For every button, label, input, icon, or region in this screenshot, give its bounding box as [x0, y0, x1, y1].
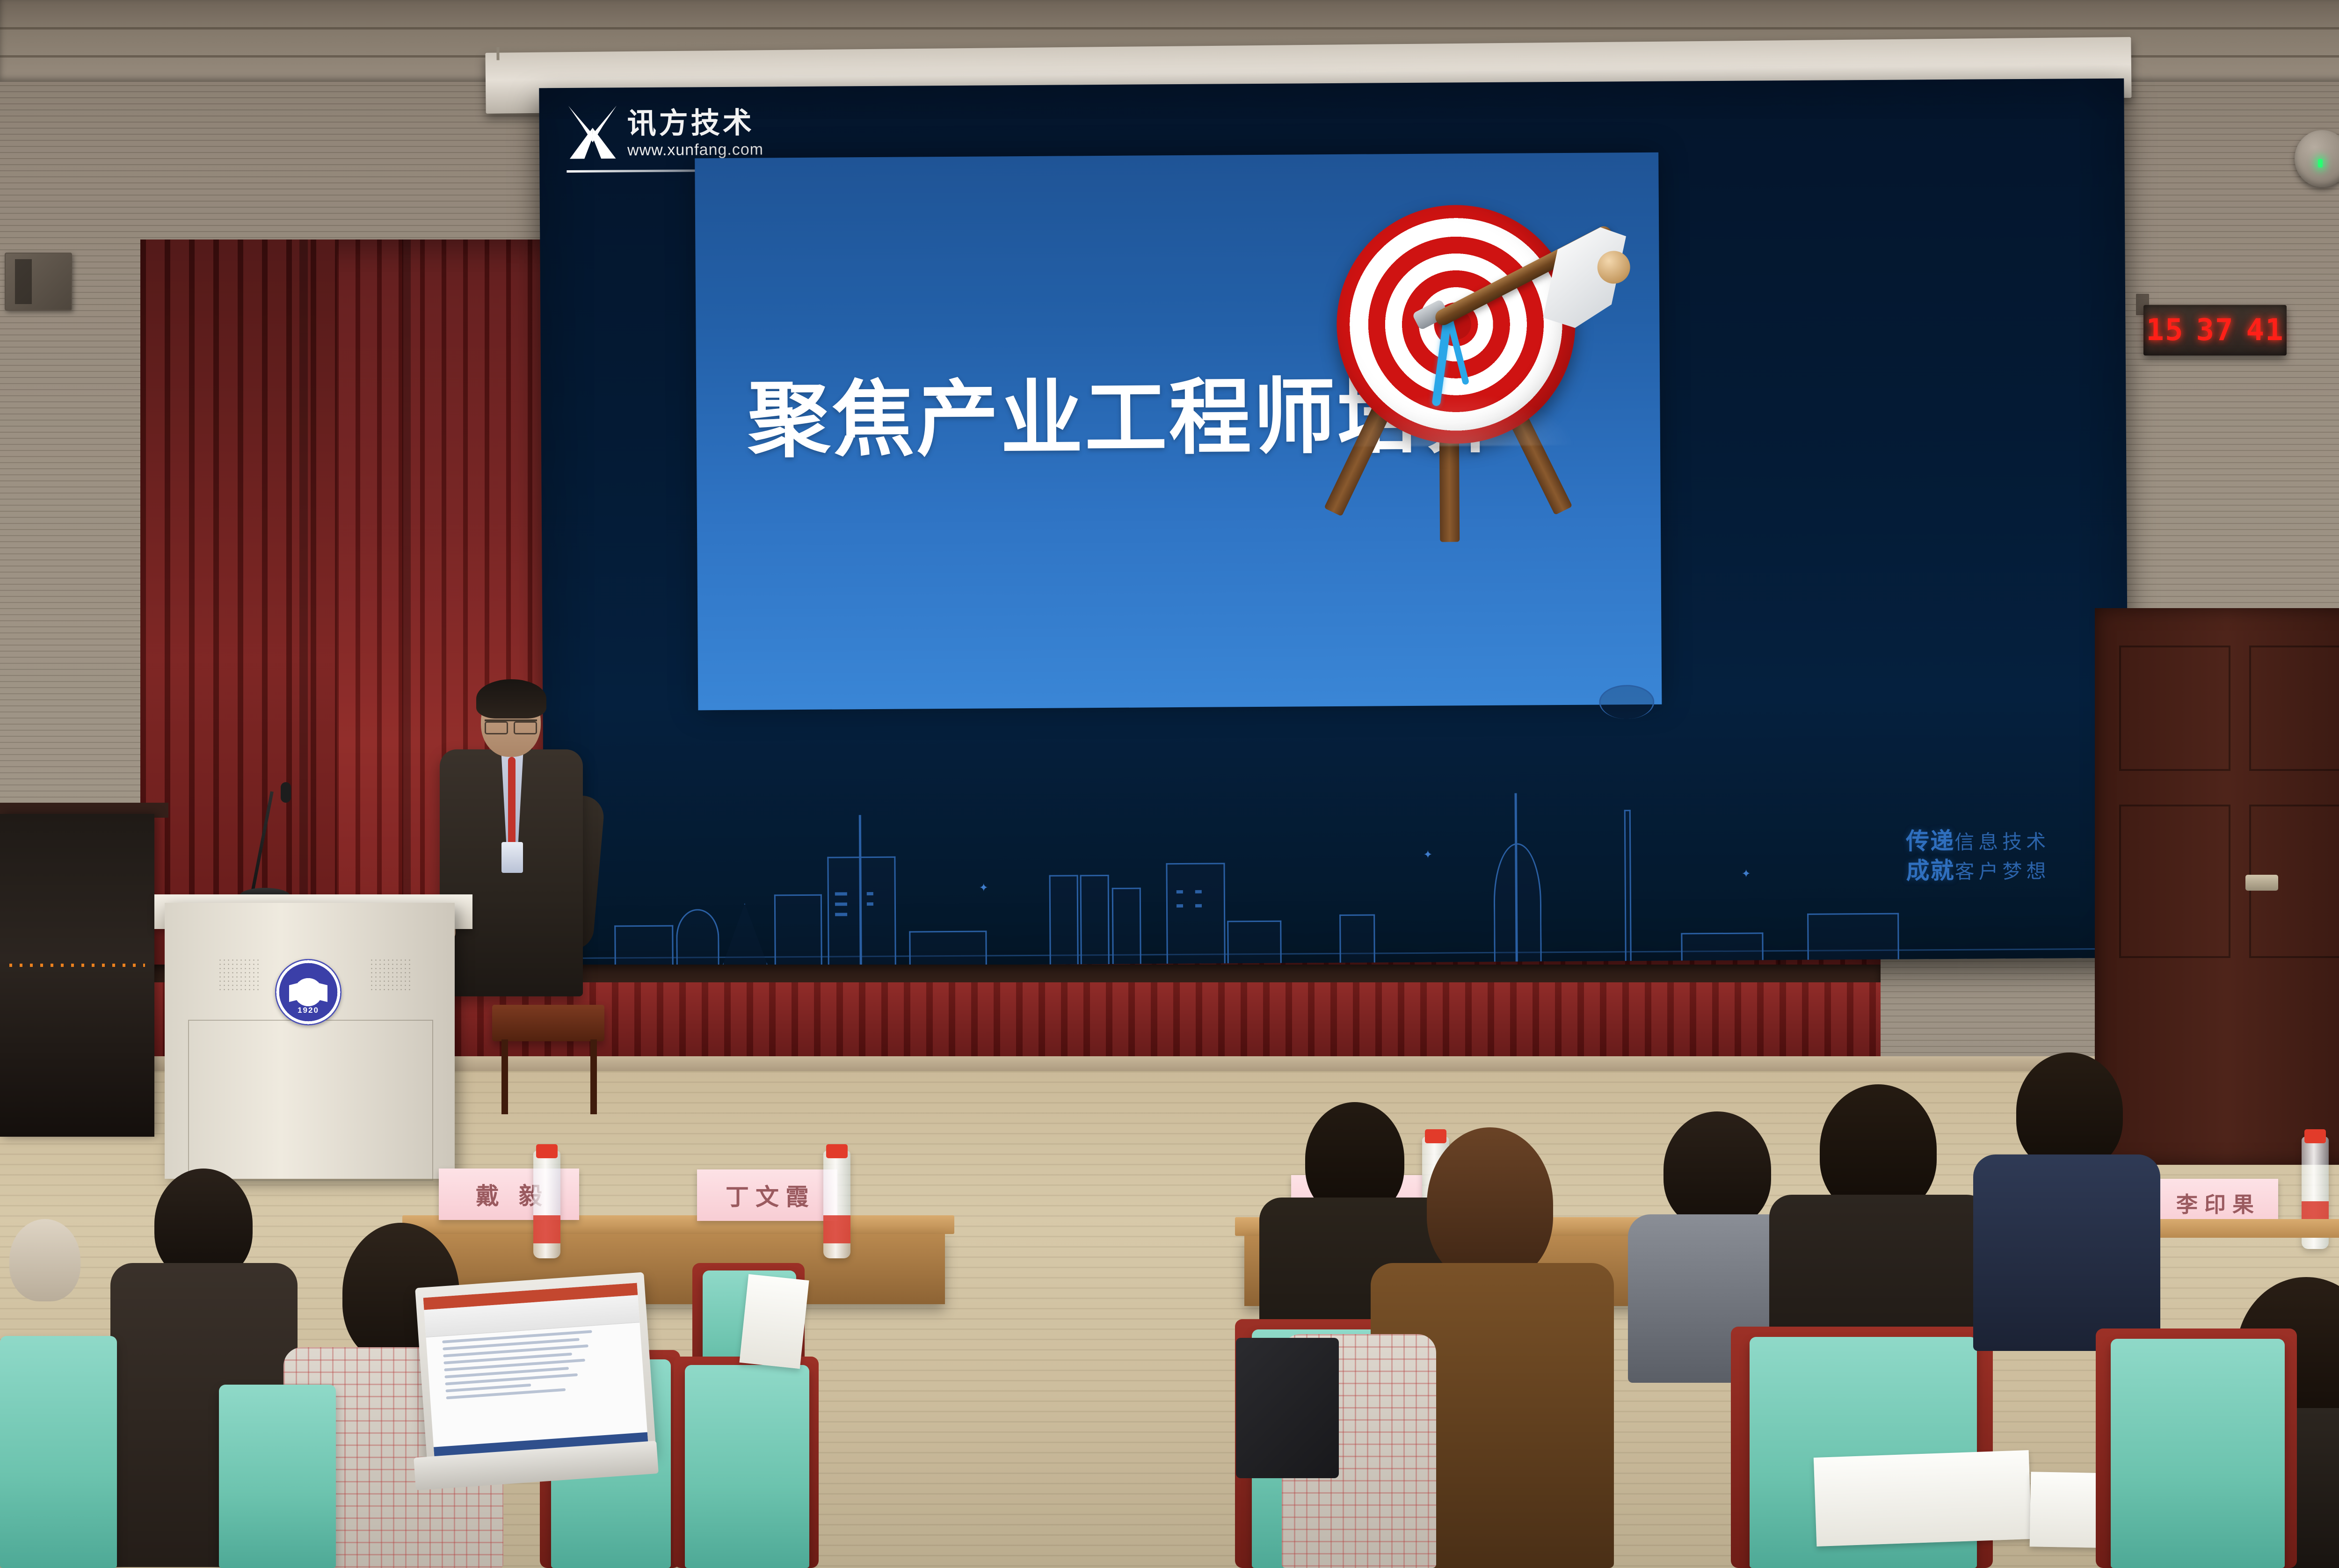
handout-paper	[739, 1274, 809, 1369]
auditorium-chair[interactable]	[219, 1385, 336, 1568]
clock-seconds: 41	[2246, 313, 2284, 348]
projection-screen: 讯方技术 www.xunfang.com 聚焦产业工程师培养 传递信息技术	[539, 79, 2129, 968]
name-card: 丁文霞	[697, 1169, 837, 1221]
attendee-head	[1663, 1111, 1771, 1228]
wooden-stool	[492, 1005, 604, 1041]
bottle-cap	[1425, 1129, 1446, 1143]
handbag	[1236, 1338, 1339, 1478]
xunfang-brand-block: 讯方技术 www.xunfang.com	[567, 103, 764, 160]
clock-minutes: 37	[2196, 313, 2234, 348]
door-handle-icon[interactable]	[2245, 875, 2278, 891]
wall-mounted-box	[5, 253, 72, 311]
slide-panel: 聚焦产业工程师培养	[695, 152, 1662, 711]
av-equipment-rack	[0, 814, 154, 1137]
podium-front-panel	[188, 1020, 433, 1181]
laptop[interactable]	[415, 1272, 656, 1468]
clock-hours: 15	[2146, 313, 2184, 348]
attendee-head	[9, 1219, 80, 1301]
attendee-body	[1973, 1154, 2160, 1351]
sensor-led-indicator	[2318, 159, 2323, 167]
presenter-glasses-icon	[485, 719, 537, 733]
bottle-label	[533, 1215, 560, 1243]
brand-website: www.xunfang.com	[627, 140, 763, 160]
laptop-screen	[423, 1283, 648, 1459]
handout-paper	[1814, 1450, 2032, 1546]
auditorium-chair[interactable]	[2111, 1339, 2285, 1568]
podium-speaker-grill	[218, 958, 261, 992]
hall-door[interactable]	[2095, 608, 2339, 1165]
emblem-year: 1920	[283, 1006, 334, 1015]
lecture-hall-photo: 15 37 41 讯方技术 www.xunfang.com	[0, 0, 2339, 1568]
digital-clock: 15 37 41	[2143, 305, 2287, 356]
auditorium-chair[interactable]	[685, 1365, 809, 1568]
bottle-label	[823, 1215, 850, 1243]
attendee-head	[2016, 1053, 2123, 1170]
attendee-head	[1427, 1127, 1553, 1282]
bottle-cap	[826, 1144, 848, 1158]
auditorium-chair[interactable]	[0, 1336, 117, 1568]
archery-target-icon	[1317, 181, 1610, 529]
microphone-icon	[281, 782, 291, 803]
bottle-cap	[536, 1144, 558, 1158]
city-skyline-decoration: ✦ ✦ ✦	[544, 818, 2129, 968]
presenter-badge	[501, 842, 523, 873]
brand-company-name: 讯方技术	[627, 109, 763, 138]
bottle-cap	[2304, 1129, 2326, 1143]
podium-speaker-grill	[370, 958, 413, 992]
presenter-lanyard	[508, 757, 516, 850]
presenter-hair	[476, 679, 546, 719]
xunfang-logo-icon	[567, 104, 619, 160]
av-rack-indicator-lights	[9, 964, 145, 967]
